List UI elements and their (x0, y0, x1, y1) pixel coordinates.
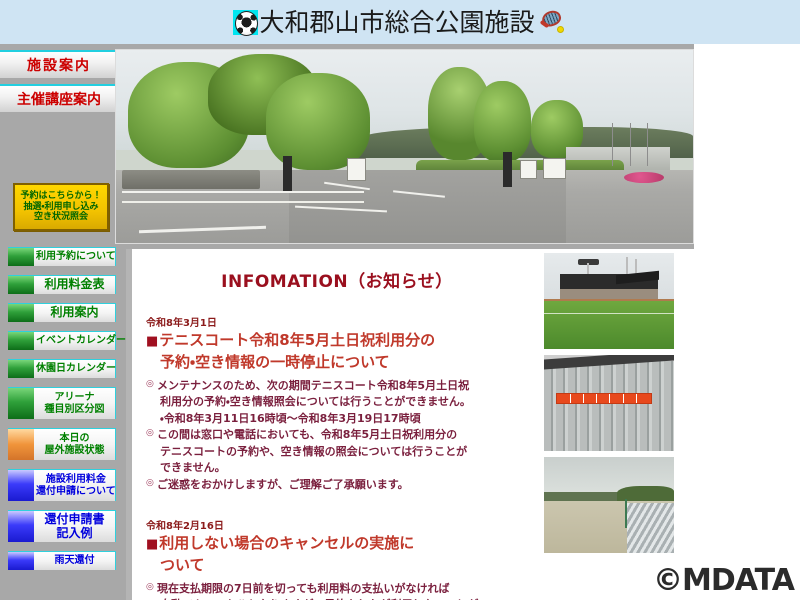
news-bullet: ご迷惑をおかけしますが、ご理解ご了承願います。 (146, 477, 528, 494)
sidebar-banner-label: 主催講座案内 (17, 89, 101, 109)
soccer-ball-icon (233, 10, 258, 35)
news-headline[interactable]: ■テニスコート令和8年5月土日祝利用分の 予約・空き情報の一時停止について (146, 330, 528, 374)
sidebar-item-refund-form-example[interactable]: 還付申請書 記入例 (8, 510, 116, 542)
bullet-block-icon (8, 511, 34, 542)
park-entrance-photo (115, 49, 694, 244)
sidebar-nav: 利用予約について 利用料金表 利用案内 (0, 247, 118, 579)
sidebar-item-label: 利用予約について (36, 251, 116, 263)
page-root: 大和郡山市総合公園施設 施設案内 主催講座案内 予約はこちらから！ 抽選・利用申… (0, 0, 800, 600)
sidebar-item-label: イベントカレンダー (36, 335, 126, 347)
sidebar-item-label: 還付申請書 (44, 513, 104, 527)
sidebar-item-label: 施設利用料金 (46, 474, 106, 486)
copyright-watermark: ©MDATA (653, 563, 794, 598)
news-body: 現在支払期限の7日前を切っても利用料の支払いがなければ 自動でキャンセルとなりま… (146, 581, 528, 600)
sidebar-banner-course-guide[interactable]: 主催講座案内 (0, 84, 118, 112)
photo-column (538, 249, 694, 600)
news-bullet-line: テニスコートの予約や、空き情報の照会については行うことが (157, 444, 528, 461)
bullet-block-icon (8, 429, 34, 460)
reservation-button-line1: 予約はこちらから！ (20, 191, 101, 202)
bullet-block-icon (8, 470, 34, 501)
facility-sign-photo[interactable] (544, 355, 674, 451)
sidebar-item-usage-guide[interactable]: 利用案内 (8, 303, 116, 322)
news-bullet: 現在支払期限の7日前を切っても利用料の支払いがなければ 自動でキャンセルとなりま… (146, 581, 528, 600)
baseball-stadium-photo[interactable] (544, 253, 674, 349)
reservation-button-line2: 抽選・利用申し込み (23, 202, 98, 213)
bullet-block-icon (8, 552, 34, 570)
sidebar-item-label: 雨天還付 (55, 555, 95, 567)
news-headline-line1: 利用しない場合のキャンセルの実施に (159, 534, 414, 552)
tennis-racket-icon (537, 9, 567, 35)
news-bullet-line: 利用分の予約・空き情報照会については行うことができません。 (157, 394, 528, 411)
sidebar-item-label-2: 屋外施設状態 (45, 445, 105, 457)
sidebar: 施設案内 主催講座案内 予約はこちらから！ 抽選・利用申し込み 空き状況照会 利… (0, 44, 118, 600)
bullet-block-icon (8, 332, 34, 350)
news-bullet-line: ・令和8年3月11日16時頃～令和8年3月19日17時頃 (157, 411, 528, 428)
sidebar-item-label-2: 還付申請について (36, 486, 116, 498)
news-item: 令和8年2月16日 ■利用しない場合のキャンセルの実施に ついて 現在支払期限の… (146, 517, 528, 600)
sidebar-item-today-outdoor-status[interactable]: 本日の 屋外施設状態 (8, 428, 116, 460)
news-bullet-line: ご迷惑をおかけしますが、ご理解ご了承願います。 (157, 478, 409, 491)
news-item: 令和8年3月1日 ■テニスコート令和8年5月土日祝利用分の 予約・空き情報の一時… (146, 314, 528, 493)
sidebar-item-rain-refund[interactable]: 雨天還付 (8, 551, 116, 570)
sidebar-item-usage-reservation[interactable]: 利用予約について (8, 247, 116, 266)
bullet-block-icon (8, 248, 34, 266)
sidebar-item-label: 本日の (60, 433, 90, 445)
news-body: メンテナンスのため、次の期間テニスコート令和8年5月土日祝 利用分の予約・空き情… (146, 378, 528, 494)
bullet-block-icon (8, 388, 34, 419)
reservation-button[interactable]: 予約はこちらから！ 抽選・利用申し込み 空き状況照会 (13, 183, 109, 231)
sidebar-item-label: 利用料金表 (44, 278, 104, 292)
sidebar-item-label-2: 種目別区分図 (45, 404, 105, 416)
news-date: 令和8年2月16日 (146, 517, 528, 532)
sidebar-banner-label: 施設案内 (27, 55, 91, 75)
information-column: INFOMATION（お知らせ） 令和8年3月1日 ■テニスコート令和8年5月土… (132, 249, 538, 600)
sidebar-item-label: 利用案内 (50, 306, 98, 320)
news-bullet-line: 現在支払期限の7日前を切っても利用料の支払いがなければ (157, 582, 450, 595)
news-bullet-line: この間は窓口や電話においても、令和8年5月土日祝利用分の (157, 428, 457, 441)
content-panel: INFOMATION（お知らせ） 令和8年3月1日 ■テニスコート令和8年5月土… (126, 249, 694, 600)
sidebar-item-event-calendar[interactable]: イベントカレンダー (8, 331, 116, 350)
news-date: 令和8年3月1日 (146, 314, 528, 329)
site-header: 大和郡山市総合公園施設 (0, 0, 800, 44)
sidebar-banner-facility-guide[interactable]: 施設案内 (0, 50, 118, 78)
outdoor-field-photo[interactable] (544, 457, 674, 553)
news-bullet: メンテナンスのため、次の期間テニスコート令和8年5月土日祝 利用分の予約・空き情… (146, 378, 528, 428)
sidebar-item-label: アリーナ (55, 392, 95, 404)
square-bullet-icon: ■ (146, 537, 158, 552)
bullet-block-icon (8, 304, 34, 322)
bullet-block-icon (8, 360, 34, 378)
news-headline-line1: テニスコート令和8年5月土日祝利用分の (159, 331, 435, 349)
bullet-block-icon (8, 276, 34, 294)
sidebar-item-label-2: 記入例 (56, 527, 92, 541)
information-heading: INFOMATION（お知らせ） (146, 267, 528, 292)
square-bullet-icon: ■ (146, 334, 158, 349)
page-title: 大和郡山市総合公園施設 (259, 10, 534, 35)
news-headline-line2: 予約・空き情報の一時停止について (146, 352, 528, 374)
news-headline-line2: ついて (146, 555, 528, 577)
sidebar-item-label: 休園日カレンダー (36, 363, 116, 375)
sidebar-item-refund-application[interactable]: 施設利用料金 還付申請について (8, 469, 116, 501)
sidebar-item-arena-zone-map[interactable]: アリーナ 種目別区分図 (8, 387, 116, 419)
news-bullet-line: メンテナンスのため、次の期間テニスコート令和8年5月土日祝 (157, 379, 469, 392)
sidebar-item-closed-days-calendar[interactable]: 休園日カレンダー (8, 359, 116, 378)
news-bullet: この間は窓口や電話においても、令和8年5月土日祝利用分の テニスコートの予約や、… (146, 427, 528, 477)
page-body: 施設案内 主催講座案内 予約はこちらから！ 抽選・利用申し込み 空き状況照会 利… (0, 44, 800, 600)
right-white-margin (694, 44, 800, 600)
news-headline[interactable]: ■利用しない場合のキャンセルの実施に ついて (146, 533, 528, 577)
reservation-button-line3: 空き状況照会 (34, 212, 88, 223)
sidebar-item-fee-table[interactable]: 利用料金表 (8, 275, 116, 294)
news-bullet-line: できません。 (157, 460, 528, 477)
